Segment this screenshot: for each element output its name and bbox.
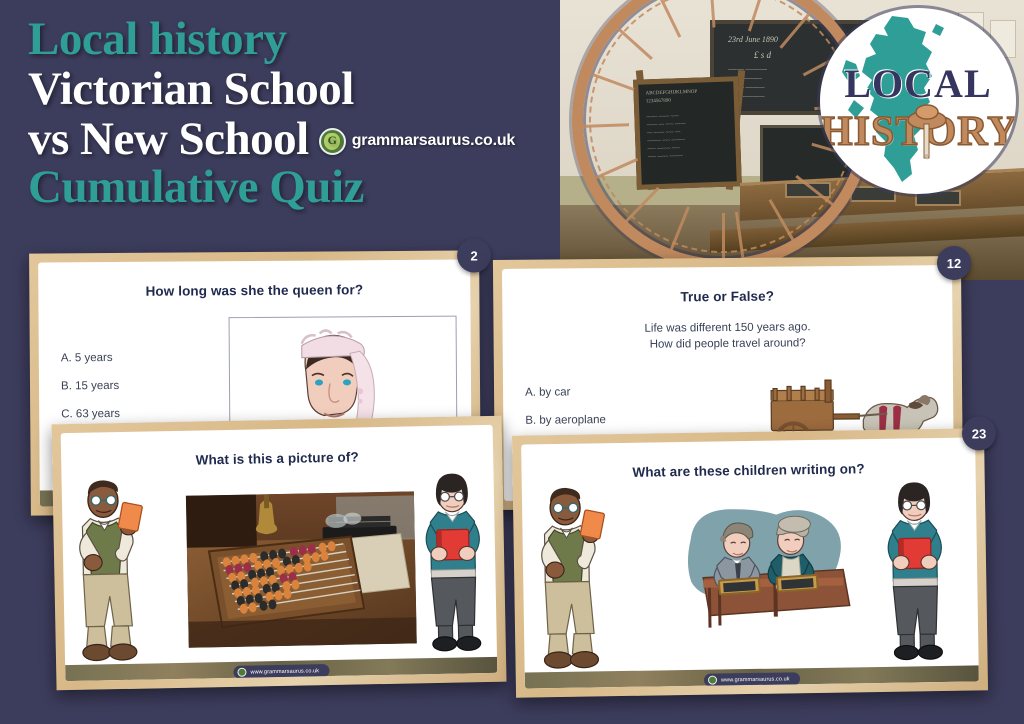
card-question: What are these children writing on? [521,459,975,481]
brand-logo-letter: G [328,135,337,147]
option-a[interactable]: A. by car [525,386,606,399]
quiz-poster-stage: 23rd June 1890 £ s d ~~~~~~ ~~~~~~~~~~~~… [0,0,1024,724]
male-teacher-illustration [532,485,611,672]
gavel-icon [905,100,949,160]
footer-url: www.grammarsaurus.co.uk [250,668,319,675]
grammarsaurus-brand[interactable]: G grammarsaurus.co.uk [319,128,515,155]
card-footer-brand: www.grammarsaurus.co.uk [233,664,329,679]
female-teacher-illustration [415,471,491,658]
title-line-vs-new-school: vs New School [28,116,309,162]
brand-mini-icon [708,676,717,685]
blackboard-easel: ABCDEFGHIJKLMNOP1234567890~~~~ ~~~~ ~~~~… [633,76,742,190]
option-a[interactable]: A. 5 years [61,352,120,364]
card-subtext: Life was different 150 years ago. How di… [502,318,952,354]
male-teacher-illustration [70,478,150,665]
quiz-card-3[interactable]: What is this a picture of? [51,416,506,691]
title-line-local-history: Local history [28,16,515,62]
option-b[interactable]: B. 15 years [61,380,120,392]
local-history-logo: LOCAL HISTORY [820,8,1016,194]
card-footer-brand: www.grammarsaurus.co.uk [704,672,800,687]
option-c[interactable]: C. 63 years [61,408,120,420]
title-line-victorian-school: Victorian School [28,66,515,112]
quiz-card-4[interactable]: 23 What are these children writing on? [512,428,988,697]
victorian-abacus-photo [186,491,417,647]
card-question: What is this a picture of? [61,447,493,470]
card-badge-number: 2 [457,238,491,272]
card-question: How long was she the queen for? [38,281,470,299]
footer-url: www.grammarsaurus.co.uk [721,676,790,683]
dinosaur-footprint-icon: G [319,128,346,155]
card-question: True or False? [502,287,952,306]
option-b[interactable]: B. by aeroplane [525,414,606,427]
victorian-children-writing-on-slates [672,501,864,634]
brand-url-text: grammarsaurus.co.uk [352,133,515,149]
title-line-cumulative-quiz: Cumulative Quiz [28,164,515,210]
poster-title-block: Local history Victorian School vs New Sc… [28,16,515,210]
card-badge-number: 23 [962,416,997,451]
female-teacher-illustration [878,480,953,667]
brand-mini-icon [237,668,246,677]
card-badge-number: 12 [937,246,971,280]
